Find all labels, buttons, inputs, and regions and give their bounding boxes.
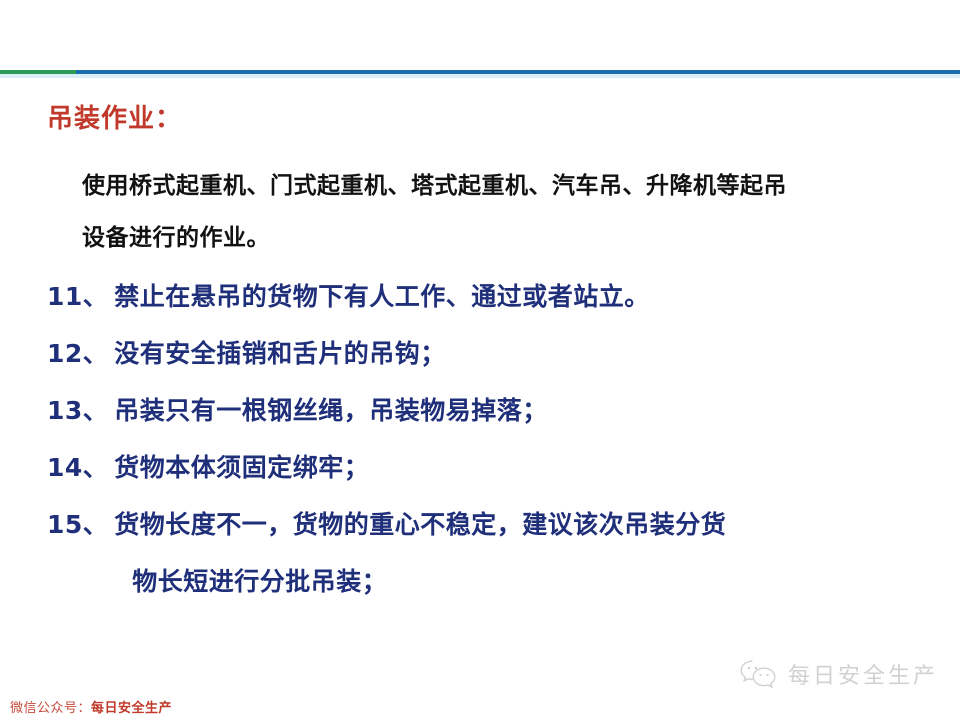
watermark-label: 每日安全生产 (788, 658, 938, 690)
slide-content: 吊装作业： 使用桥式起重机、门式起重机、塔式起重机、汽车吊、升降机等起吊 设备进… (0, 72, 960, 632)
rules-list: 11、 禁止在悬吊的货物下有人工作、通过或者站立。 12、 没有安全插销和舌片的… (47, 268, 927, 610)
definition-line-2: 设备进行的作业。 (82, 212, 912, 264)
list-item-number: 15、 (47, 496, 114, 553)
list-item-text: 没有安全插销和舌片的吊钩； (114, 325, 927, 382)
list-item-number: 12、 (47, 325, 114, 382)
footer-wechat-prefix: 微信公众号： (10, 701, 91, 716)
list-item: 13、 吊装只有一根钢丝绳，吊装物易掉落； (47, 382, 927, 439)
list-item-text: 吊装只有一根钢丝绳，吊装物易掉落； (114, 382, 927, 439)
list-item-text: 货物本体须固定绑牢； (114, 439, 927, 496)
definition-paragraph: 使用桥式起重机、门式起重机、塔式起重机、汽车吊、升降机等起吊 设备进行的作业。 (82, 160, 912, 264)
footer-wechat-credit: 微信公众号：每日安全生产 (10, 697, 172, 716)
list-item-text-line-1: 货物长度不一，货物的重心不稳定，建议该次吊装分货 (114, 510, 726, 539)
list-item-text: 禁止在悬吊的货物下有人工作、通过或者站立。 (114, 268, 927, 325)
definition-line-1: 使用桥式起重机、门式起重机、塔式起重机、汽车吊、升降机等起吊 (82, 160, 912, 212)
list-item: 15、 货物长度不一，货物的重心不稳定，建议该次吊装分货 物长短进行分批吊装； (47, 496, 927, 610)
footer-wechat-account: 每日安全生产 (91, 701, 172, 716)
section-heading: 吊装作业： (47, 105, 182, 134)
wechat-bubbles-icon (738, 658, 780, 690)
list-item: 14、 货物本体须固定绑牢； (47, 439, 927, 496)
list-item-number: 14、 (47, 439, 114, 496)
list-item-number: 13、 (47, 382, 114, 439)
list-item: 11、 禁止在悬吊的货物下有人工作、通过或者站立。 (47, 268, 927, 325)
list-item: 12、 没有安全插销和舌片的吊钩； (47, 325, 927, 382)
list-item-text: 货物长度不一，货物的重心不稳定，建议该次吊装分货 物长短进行分批吊装； (114, 496, 927, 610)
list-item-text-line-2: 物长短进行分批吊装； (114, 553, 927, 610)
list-item-number: 11、 (47, 268, 114, 325)
slide-page: { "page": { "width": 960, "height": 720,… (0, 0, 960, 720)
watermark: 每日安全生产 (738, 658, 938, 690)
